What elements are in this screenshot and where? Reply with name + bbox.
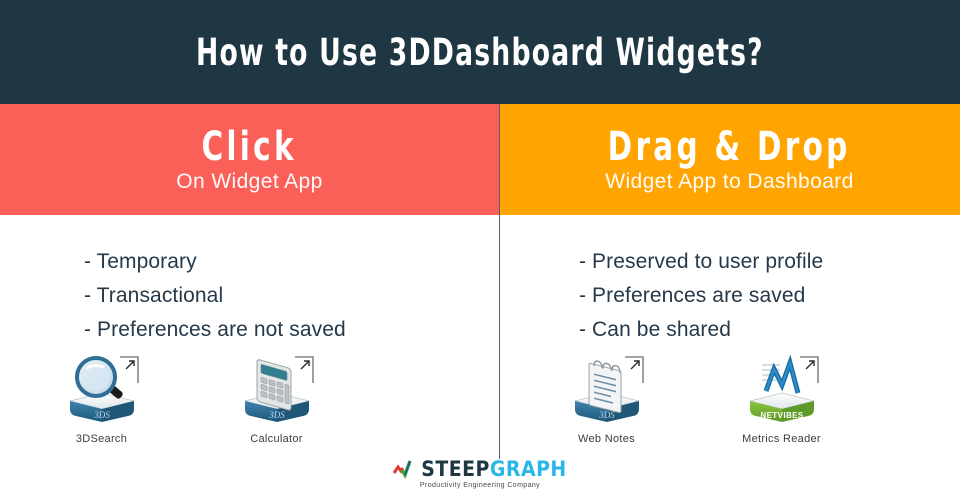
calculator-widget-svg: 3DS xyxy=(235,353,319,427)
category-bands: Click On Widget App Drag & Drop Widget A… xyxy=(0,104,960,215)
widget-icon-row-drag-drop: 3DS xyxy=(499,353,960,445)
widget-3dsearch[interactable]: 3DS 3DSearch xyxy=(14,353,189,445)
svg-text:3DS: 3DS xyxy=(598,410,615,420)
logo-row: STEEPGRAPH xyxy=(393,458,567,480)
list-item: - Can be shared xyxy=(579,313,960,347)
list-item: - Preferences are saved xyxy=(579,279,960,313)
slide-root: How to Use 3DDashboard Widgets? Click On… xyxy=(0,0,960,502)
band-drag-drop-heading: Drag & Drop xyxy=(608,126,851,168)
column-click: - Temporary - Transactional - Preference… xyxy=(0,215,499,460)
svg-text:3DS: 3DS xyxy=(268,410,285,420)
title-bar: How to Use 3DDashboard Widgets? xyxy=(0,0,960,104)
page-title: How to Use 3DDashboard Widgets? xyxy=(196,31,764,74)
bullet-list-click: - Temporary - Transactional - Preference… xyxy=(84,215,499,347)
column-drag-drop: - Preserved to user profile - Preference… xyxy=(499,215,960,460)
band-drag-drop-subheading: Widget App to Dashboard xyxy=(605,170,854,193)
band-click-heading: Click xyxy=(202,126,297,168)
widget-metrics-reader[interactable]: NETVIBES Metrics Reader xyxy=(694,353,869,445)
widget-label: Metrics Reader xyxy=(742,433,821,445)
logo-word-secondary: GRAPH xyxy=(490,459,567,480)
svg-text:3DS: 3DS xyxy=(93,410,110,420)
band-drag-drop: Drag & Drop Widget App to Dashboard xyxy=(499,104,960,215)
widget-web-notes[interactable]: 3DS xyxy=(519,353,694,445)
list-item: - Preferences are not saved xyxy=(84,313,499,347)
band-click: Click On Widget App xyxy=(0,104,499,215)
netvibes-chart-widget-icon: NETVIBES xyxy=(740,353,824,427)
magnifier-widget-svg: 3DS xyxy=(60,353,144,427)
content-columns: - Temporary - Transactional - Preference… xyxy=(0,215,960,460)
steepgraph-mark-icon xyxy=(393,459,419,479)
netvibes-chart-widget-svg: NETVIBES xyxy=(740,353,824,427)
list-item: - Temporary xyxy=(84,245,499,279)
notepad-widget-icon: 3DS xyxy=(565,353,649,427)
logo-word-primary: STEEP xyxy=(421,459,490,480)
svg-text:NETVIBES: NETVIBES xyxy=(760,411,803,420)
magnifier-widget-icon: 3DS xyxy=(60,353,144,427)
notepad-widget-svg: 3DS xyxy=(565,353,649,427)
widget-label: Calculator xyxy=(250,433,303,445)
list-item: - Transactional xyxy=(84,279,499,313)
widget-label: 3DSearch xyxy=(76,433,127,445)
list-item: - Preserved to user profile xyxy=(579,245,960,279)
band-click-subheading: On Widget App xyxy=(176,170,322,193)
widget-label: Web Notes xyxy=(578,433,635,445)
widget-icon-row-click: 3DS 3DSearch xyxy=(0,353,513,445)
steepgraph-logo: STEEPGRAPH Productivity Engineering Comp… xyxy=(0,458,960,502)
widget-calculator[interactable]: 3DS xyxy=(189,353,364,445)
logo-tagline: Productivity Engineering Company xyxy=(420,482,540,489)
bullet-list-drag-drop: - Preserved to user profile - Preference… xyxy=(579,215,960,347)
calculator-widget-icon: 3DS xyxy=(235,353,319,427)
